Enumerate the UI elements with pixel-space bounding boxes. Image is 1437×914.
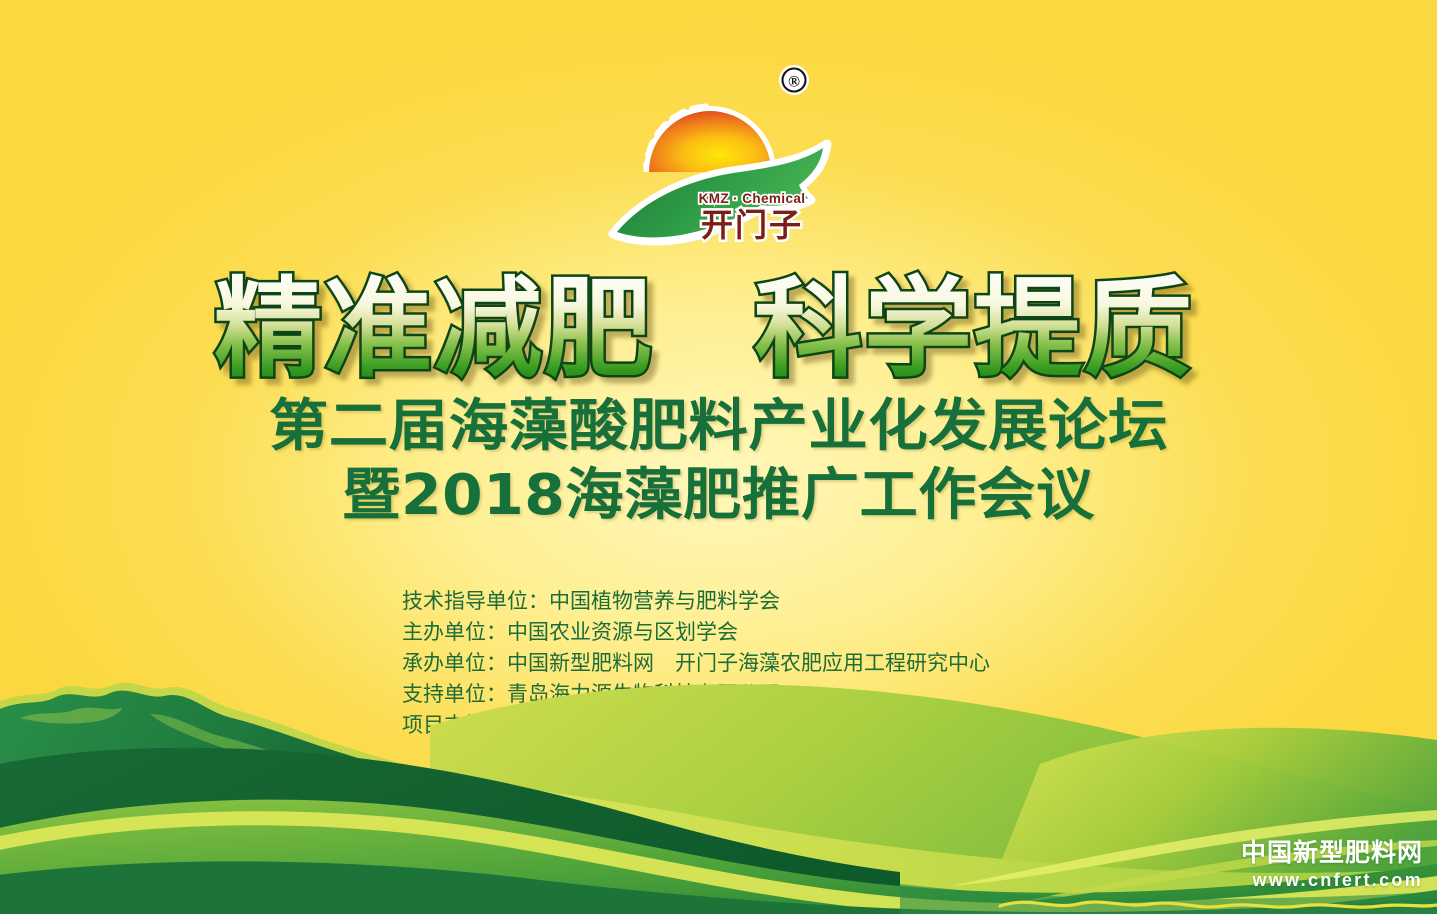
- company-logo: ® KMZ · Chemical 开门子: [0, 58, 1437, 248]
- subtitle-line-2: 暨2018海藻肥推广工作会议: [0, 465, 1437, 528]
- registered-mark-glyph: ®: [788, 74, 800, 91]
- scenery-svg: [0, 614, 1437, 914]
- subtitle-block: 第二届海藻酸肥料产业化发展论坛 暨2018海藻肥推广工作会议: [0, 396, 1437, 527]
- conference-banner: ® KMZ · Chemical 开门子: [0, 0, 1437, 914]
- watermark-site-name: 中国新型肥料网: [1241, 839, 1423, 867]
- main-headline: 精准减肥 科学提质: [0, 262, 1437, 392]
- headline-left: 精准减肥: [214, 267, 654, 392]
- credit-line-technical-guidance: 技术指导单位：中国植物营养与肥料学会: [402, 586, 1162, 617]
- logo-svg: ® KMZ · Chemical 开门子: [589, 58, 849, 248]
- logo-brand-cn: 开门子: [700, 206, 802, 244]
- scenery-illustration: [0, 614, 1437, 914]
- watermark-url: www.cnfert.com: [1241, 868, 1423, 892]
- subtitle-line-1: 第二届海藻酸肥料产业化发展论坛: [0, 396, 1437, 459]
- headline-svg: 精准减肥 科学提质: [194, 262, 1244, 392]
- registered-trademark-icon: ®: [779, 65, 809, 95]
- site-watermark: 中国新型肥料网 www.cnfert.com: [1241, 839, 1423, 892]
- logo-brand-en: KMZ · Chemical: [698, 191, 805, 206]
- headline-right: 科学提质: [754, 267, 1194, 392]
